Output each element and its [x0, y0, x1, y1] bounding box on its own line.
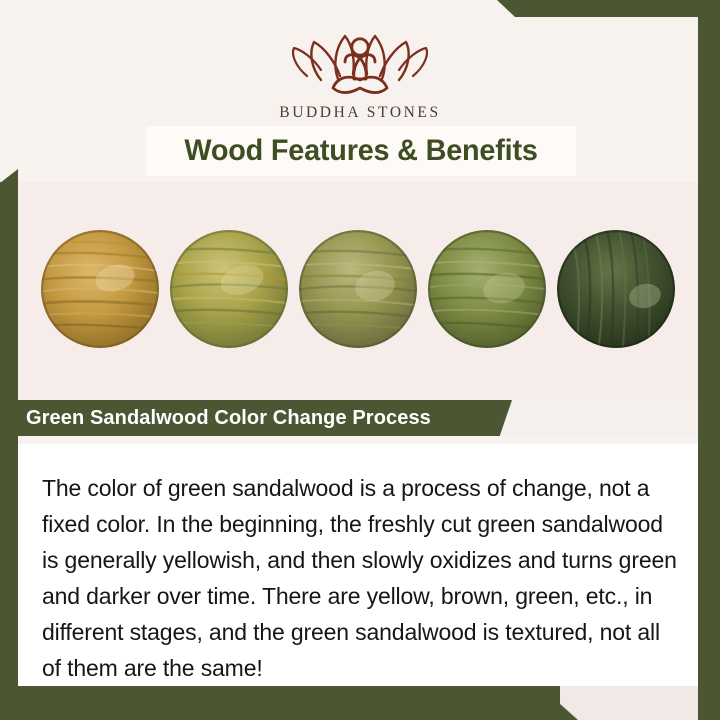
wood-bead-graphic: [299, 230, 417, 348]
header-section: BUDDHA STONES Wood Features & Benefits: [0, 0, 720, 182]
frame-border-left: [0, 182, 18, 720]
brand-logo: BUDDHA STONES: [0, 22, 720, 122]
wood-bead-graphic: [557, 230, 675, 348]
bead-stage-4: [428, 230, 546, 348]
frame-border-right: [698, 0, 720, 720]
section-banner-title: Green Sandalwood Color Change Process: [26, 407, 431, 430]
wood-bead-graphic: [428, 230, 546, 348]
color-stages-panel: [18, 182, 698, 400]
section-banner: Green Sandalwood Color Change Process: [0, 400, 512, 436]
lotus-meditation-icon: [275, 22, 445, 100]
bead-stage-5: [557, 230, 675, 348]
bead-stage-2: [170, 230, 288, 348]
bead-stage-1: [41, 230, 159, 348]
wood-bead-graphic: [41, 230, 159, 348]
frame-border-bottom: [0, 686, 560, 720]
page-title: Wood Features & Benefits: [184, 134, 537, 168]
page-title-plate: Wood Features & Benefits: [146, 126, 576, 176]
bead-stage-3: [299, 230, 417, 348]
card-top-divider: [18, 436, 698, 444]
frame-bevel-bottom-right: [540, 686, 578, 720]
description-paragraph: The color of green sandalwood is a proce…: [42, 470, 682, 686]
wood-bead-graphic: [170, 230, 288, 348]
frame-bevel-left: [0, 169, 18, 183]
infographic-page: BUDDHA STONES Wood Features & Benefits: [0, 0, 720, 720]
description-card: The color of green sandalwood is a proce…: [18, 436, 698, 686]
brand-name: BUDDHA STONES: [0, 104, 720, 122]
bead-row: [18, 230, 698, 348]
frame-bevel-top-right: [497, 0, 515, 17]
frame-border-top-right: [515, 0, 720, 17]
